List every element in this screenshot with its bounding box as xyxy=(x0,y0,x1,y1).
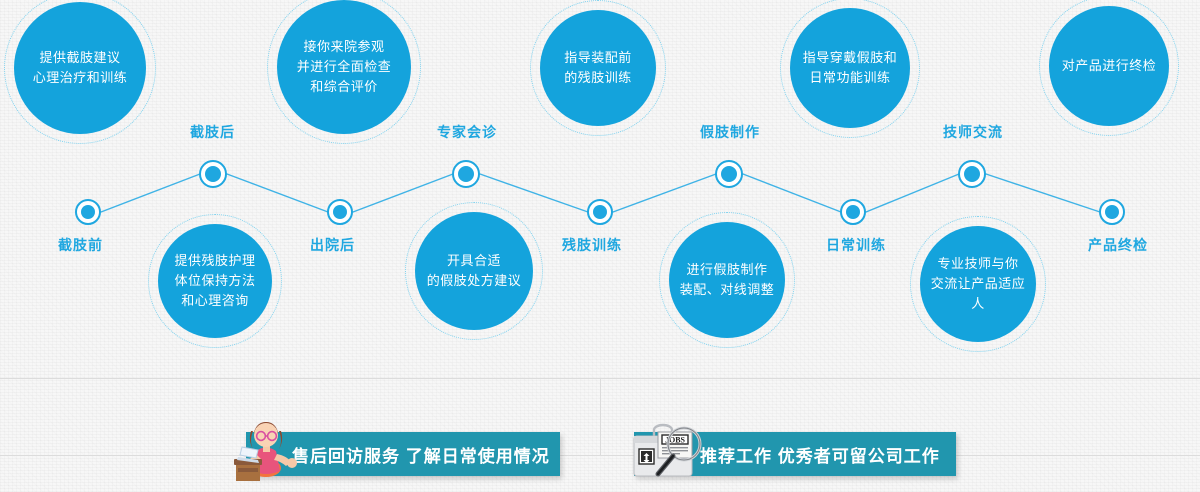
woman-at-desk-icon xyxy=(232,411,302,483)
node-dot xyxy=(458,166,474,182)
bubble-text: 指导穿戴假肢和 日常功能训练 xyxy=(797,48,904,88)
timeline-node-post-amputation[interactable] xyxy=(199,160,227,188)
node-label-expert-consult: 专家会诊 xyxy=(437,122,497,142)
timeline-node-technician-exchange[interactable] xyxy=(958,160,986,188)
bubble-text: 对产品进行终检 xyxy=(1056,56,1163,76)
node-dot xyxy=(721,166,737,182)
node-label-stump-training: 残肢训练 xyxy=(562,235,622,255)
bubble-pre-fitting-training: 指导装配前 的残肢训练 xyxy=(540,10,656,126)
node-dot xyxy=(81,205,95,219)
node-dot xyxy=(964,166,980,182)
node-label-pre-amputation: 截肢前 xyxy=(58,235,103,255)
bubble-prosthesis-assembly: 进行假肢制作 装配、对线调整 xyxy=(669,222,785,338)
timeline-node-pre-amputation[interactable] xyxy=(75,199,101,225)
bubble-amputation-advice: 提供截肢建议 心理治疗和训练 xyxy=(14,2,146,134)
bubble-hospital-visit: 接你来院参观 并进行全面检查 和综合评价 xyxy=(277,0,411,134)
bubble-prescription: 开具合适 的假肢处方建议 xyxy=(415,212,533,330)
bubble-final-inspection: 对产品进行终检 xyxy=(1049,6,1169,126)
bubble-text: 专业技师与你 交流让产品适应人 xyxy=(920,254,1036,314)
node-label-post-amputation: 截肢后 xyxy=(190,122,235,142)
node-label-post-discharge: 出院后 xyxy=(310,235,355,255)
infographic-canvas: 提供截肢建议 心理治疗和训练 接你来院参观 并进行全面检查 和综合评价 指导装配… xyxy=(0,0,1200,492)
node-label-final-inspection: 产品终检 xyxy=(1088,235,1148,255)
node-dot xyxy=(846,205,860,219)
bubble-text: 进行假肢制作 装配、对线调整 xyxy=(674,260,781,300)
bubble-text: 提供残肢护理 体位保持方法 和心理咨询 xyxy=(168,251,261,311)
banner-label: 推荐工作 优秀者可留公司工作 xyxy=(700,442,940,467)
bubble-text: 指导装配前 的残肢训练 xyxy=(558,48,638,88)
bubble-text: 接你来院参观 并进行全面检查 和综合评价 xyxy=(291,37,398,97)
node-dot xyxy=(333,205,347,219)
briefcase-jobs-magnifier-icon: JOBS xyxy=(628,418,712,486)
bubble-technician-exchange: 专业技师与你 交流让产品适应人 xyxy=(920,226,1036,342)
node-dot xyxy=(205,166,221,182)
timeline-node-final-inspection[interactable] xyxy=(1099,199,1125,225)
node-label-prosthesis-making: 假肢制作 xyxy=(700,122,760,142)
node-dot xyxy=(593,205,607,219)
bubble-wearing-guidance: 指导穿戴假肢和 日常功能训练 xyxy=(790,8,910,128)
timeline-node-stump-training[interactable] xyxy=(587,199,613,225)
bubble-text: 开具合适 的假肢处方建议 xyxy=(421,251,528,291)
node-label-daily-training: 日常训练 xyxy=(826,235,886,255)
node-dot xyxy=(1105,205,1119,219)
timeline-node-post-discharge[interactable] xyxy=(327,199,353,225)
timeline-node-expert-consult[interactable] xyxy=(452,160,480,188)
bubble-text: 提供截肢建议 心理治疗和训练 xyxy=(27,48,134,88)
banner-label: 售后回访服务 了解日常使用情况 xyxy=(292,442,550,467)
node-label-technician-exchange: 技师交流 xyxy=(943,122,1003,142)
bubble-stump-care: 提供残肢护理 体位保持方法 和心理咨询 xyxy=(158,224,272,338)
timeline-node-prosthesis-making[interactable] xyxy=(715,160,743,188)
timeline-node-daily-training[interactable] xyxy=(840,199,866,225)
